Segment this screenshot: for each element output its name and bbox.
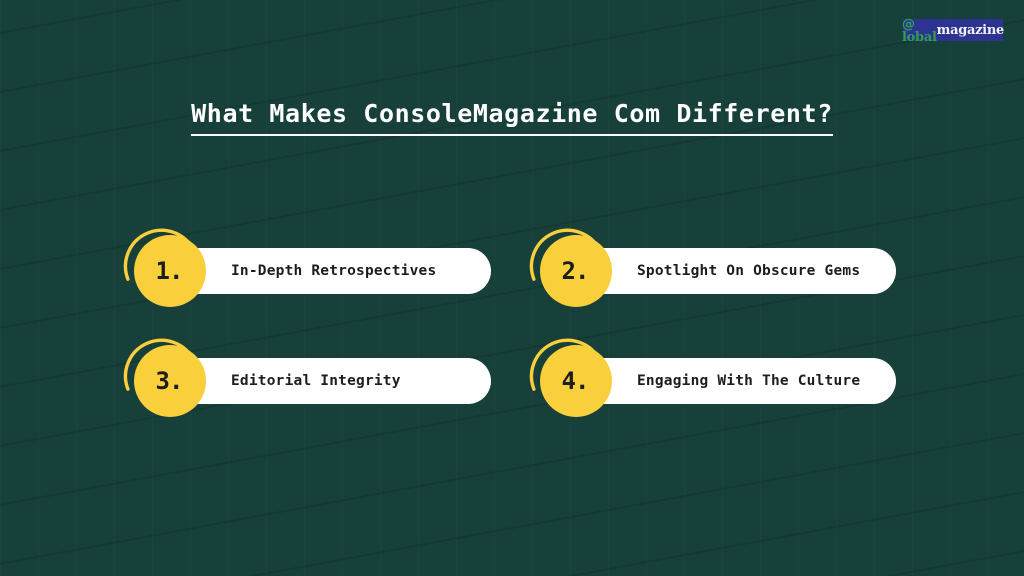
badge-number: 3. — [134, 345, 206, 417]
logo-primary-text: lobal — [902, 30, 937, 45]
list-item-badge: 3. — [134, 345, 206, 417]
badge-number: 2. — [540, 235, 612, 307]
list-item-label: In-Depth Retrospectives — [169, 263, 436, 279]
list-item-badge: 4. — [540, 345, 612, 417]
logo-secondary-word: magazine — [937, 24, 1004, 37]
list-item-pill[interactable]: In-Depth Retrospectives — [169, 248, 491, 294]
list-item-badge: 2. — [540, 235, 612, 307]
list-item-pill[interactable]: Engaging With The Culture — [575, 358, 896, 404]
logo-primary-word: @lobal — [902, 17, 937, 44]
brand-logo[interactable]: @lobalmagazine — [903, 19, 1003, 41]
badge-number: 4. — [540, 345, 612, 417]
slide-canvas: @lobalmagazine What Makes ConsoleMagazin… — [0, 0, 1024, 576]
badge-number: 1. — [134, 235, 206, 307]
page-title-text: What Makes ConsoleMagazine Com Different… — [191, 99, 833, 136]
list-item-label: Engaging With The Culture — [575, 373, 860, 389]
list-item-badge: 1. — [134, 235, 206, 307]
page-title: What Makes ConsoleMagazine Com Different… — [0, 99, 1024, 136]
list-item-pill[interactable]: Editorial Integrity — [169, 358, 491, 404]
list-item-label: Spotlight On Obscure Gems — [575, 263, 860, 279]
list-item-pill[interactable]: Spotlight On Obscure Gems — [575, 248, 896, 294]
